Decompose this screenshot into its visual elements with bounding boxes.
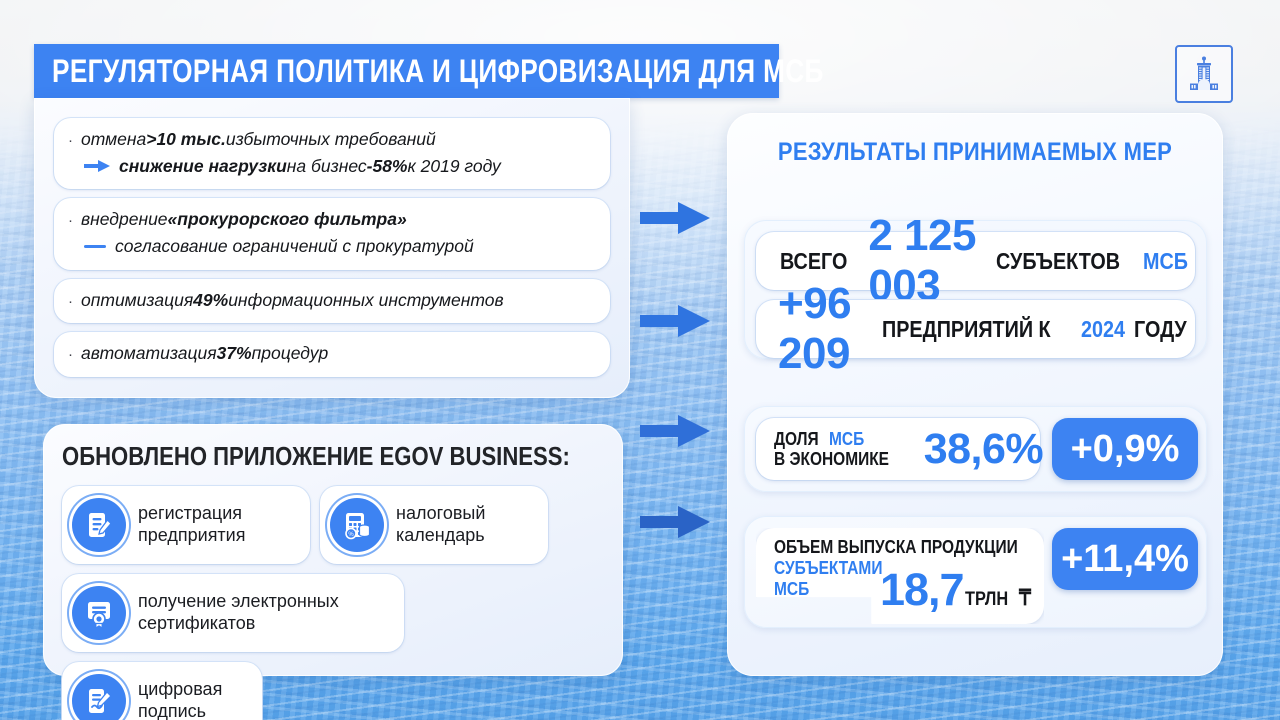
measure-text-bold: 37% xyxy=(217,342,252,366)
new-entities-year: 2024 xyxy=(1081,316,1125,343)
label-line-1: получение электронных xyxy=(138,591,339,613)
volume-unit: ТРЛН xyxy=(965,589,1008,611)
bullet-dot: · xyxy=(68,292,73,312)
service-tile-label: цифровая подпись xyxy=(138,679,222,720)
measures-list: · отмена >10 тыс. избыточных требований … xyxy=(54,118,610,377)
building-icon xyxy=(1184,54,1224,94)
bullet-dot: · xyxy=(68,131,73,151)
page-title-bar: РЕГУЛЯТОРНАЯ ПОЛИТИКА И ЦИФРОВИЗАЦИЯ ДЛЯ… xyxy=(34,44,779,98)
total-value: 2 125 003 xyxy=(868,211,986,311)
label-line-1: налоговый xyxy=(396,503,485,525)
new-entities-suffix-2: ГОДУ xyxy=(1134,316,1187,343)
label-line-1: цифровая xyxy=(138,679,222,701)
result-card-new-entities[interactable]: +96 209 ПРЕДПРИЯТИЙ К 2024 ГОДУ xyxy=(756,300,1195,358)
volume-value: 18,7 xyxy=(880,564,964,616)
measure-sub-bold2: -58% xyxy=(367,155,408,179)
service-tile-digital-signature[interactable]: цифровая подпись xyxy=(62,662,262,720)
label-line-2: подпись xyxy=(138,701,222,720)
label-line-2: предприятия xyxy=(138,525,245,547)
list-item[interactable]: · автоматизация 37% процедур xyxy=(54,332,610,377)
label-line-1: регистрация xyxy=(138,503,245,525)
flow-arrow-icon xyxy=(640,504,710,545)
measure-sub-post: к 2019 году xyxy=(408,155,501,179)
share-delta-badge: +0,9% xyxy=(1052,418,1198,480)
certificate-seal-icon xyxy=(72,586,126,640)
inline-arrow-icon xyxy=(84,155,110,179)
measure-text-post: информационных инструментов xyxy=(228,289,503,313)
total-suffix: СУБЪЕКТОВ xyxy=(996,248,1120,275)
service-tile-registration[interactable]: регистрация предприятия xyxy=(62,486,310,564)
measure-line-1: · оптимизация 49% информационных инструм… xyxy=(68,289,596,313)
measure-text-bold: «прокурорского фильтра» xyxy=(168,208,407,232)
service-tile-label: налоговый календарь xyxy=(396,503,485,547)
measure-line-1: · автоматизация 37% процедур xyxy=(68,342,596,366)
measure-text-pre: внедрение xyxy=(81,208,168,232)
inline-dash-icon xyxy=(84,245,106,249)
measure-text-pre: отмена xyxy=(81,128,146,152)
volume-delta-badge: +11,4% xyxy=(1052,528,1198,590)
measure-line-2: снижение нагрузки на бизнес -58% к 2019 … xyxy=(68,155,596,179)
flow-arrow-icon xyxy=(640,413,710,454)
label-line-2: календарь xyxy=(396,525,485,547)
measure-text-bold: >10 тыс. xyxy=(146,128,226,152)
flow-arrow-icon xyxy=(640,200,710,241)
measure-text-post: избыточных требований xyxy=(226,128,436,152)
flow-arrow-icon xyxy=(640,303,710,344)
egov-title: ОБНОВЛЕНО ПРИЛОЖЕНИЕ EGOV BUSINESS: xyxy=(62,441,570,472)
measure-text-post: процедур xyxy=(252,342,329,366)
service-tile-label: регистрация предприятия xyxy=(138,503,245,547)
service-tile-tax-calendar[interactable]: % налоговый календарь xyxy=(320,486,548,564)
share-label-2: В ЭКОНОМИКЕ xyxy=(774,449,889,469)
measure-line-1: · внедрение «прокурорского фильтра» xyxy=(68,208,596,232)
measure-text-bold: 49% xyxy=(193,289,228,313)
bullet-dot: · xyxy=(68,211,73,231)
government-building-emblem xyxy=(1175,45,1233,103)
service-tile-label: получение электронных сертификатов xyxy=(138,591,339,635)
measure-line-1: · отмена >10 тыс. избыточных требований xyxy=(68,128,596,152)
regulatory-measures-panel: · отмена >10 тыс. избыточных требований … xyxy=(34,98,630,398)
list-item[interactable]: · внедрение «прокурорского фильтра» согл… xyxy=(54,198,610,269)
measure-sub-bold: снижение нагрузки xyxy=(119,155,287,179)
list-item[interactable]: · оптимизация 49% информационных инструм… xyxy=(54,279,610,324)
label-line-2: сертификатов xyxy=(138,613,339,635)
egov-business-panel: ОБНОВЛЕНО ПРИЛОЖЕНИЕ EGOV BUSINESS: реги… xyxy=(43,424,623,676)
svg-text:%: % xyxy=(348,532,354,538)
bullet-dot: · xyxy=(68,345,73,365)
new-entities-suffix-1: ПРЕДПРИЯТИЙ К xyxy=(882,316,1051,343)
results-title: РЕЗУЛЬТАТЫ ПРИНИМАЕМЫХ МЕР xyxy=(757,138,1193,167)
signature-document-icon xyxy=(72,674,126,720)
list-item[interactable]: · отмена >10 тыс. избыточных требований … xyxy=(54,118,610,189)
volume-currency-icon: ₸ xyxy=(1019,585,1031,611)
measure-sub-mid: на бизнес xyxy=(287,155,367,179)
volume-value-group: 18,7 ТРЛН ₸ xyxy=(880,564,1033,616)
measure-sub-mid: согласование ограничений с прокуратурой xyxy=(115,235,474,259)
total-prefix: ВСЕГО xyxy=(780,248,847,275)
document-pen-icon xyxy=(72,498,126,552)
volume-label-1: ОБЪЕМ ВЫПУСКА ПРОДУКЦИИ xyxy=(774,537,1006,558)
total-suffix-blue: МСБ xyxy=(1143,248,1188,275)
result-card-share[interactable]: ДОЛЯ МСБ В ЭКОНОМИКЕ 38,6% xyxy=(756,418,1040,480)
calculator-coins-icon: % xyxy=(330,498,384,552)
share-label-1-blue: МСБ xyxy=(829,429,864,449)
new-entities-value: +96 209 xyxy=(778,279,870,379)
measure-line-2: согласование ограничений с прокуратурой xyxy=(68,235,596,259)
measure-text-pre: автоматизация xyxy=(81,342,217,366)
share-label-1: ДОЛЯ xyxy=(774,429,819,449)
share-value: 38,6% xyxy=(924,425,1043,474)
egov-service-tiles: регистрация предприятия % xyxy=(62,486,604,720)
service-tile-certificates[interactable]: получение электронных сертификатов xyxy=(62,574,404,652)
measure-text-pre: оптимизация xyxy=(81,289,193,313)
page-title: РЕГУЛЯТОРНАЯ ПОЛИТИКА И ЦИФРОВИЗАЦИЯ ДЛЯ… xyxy=(52,53,824,90)
